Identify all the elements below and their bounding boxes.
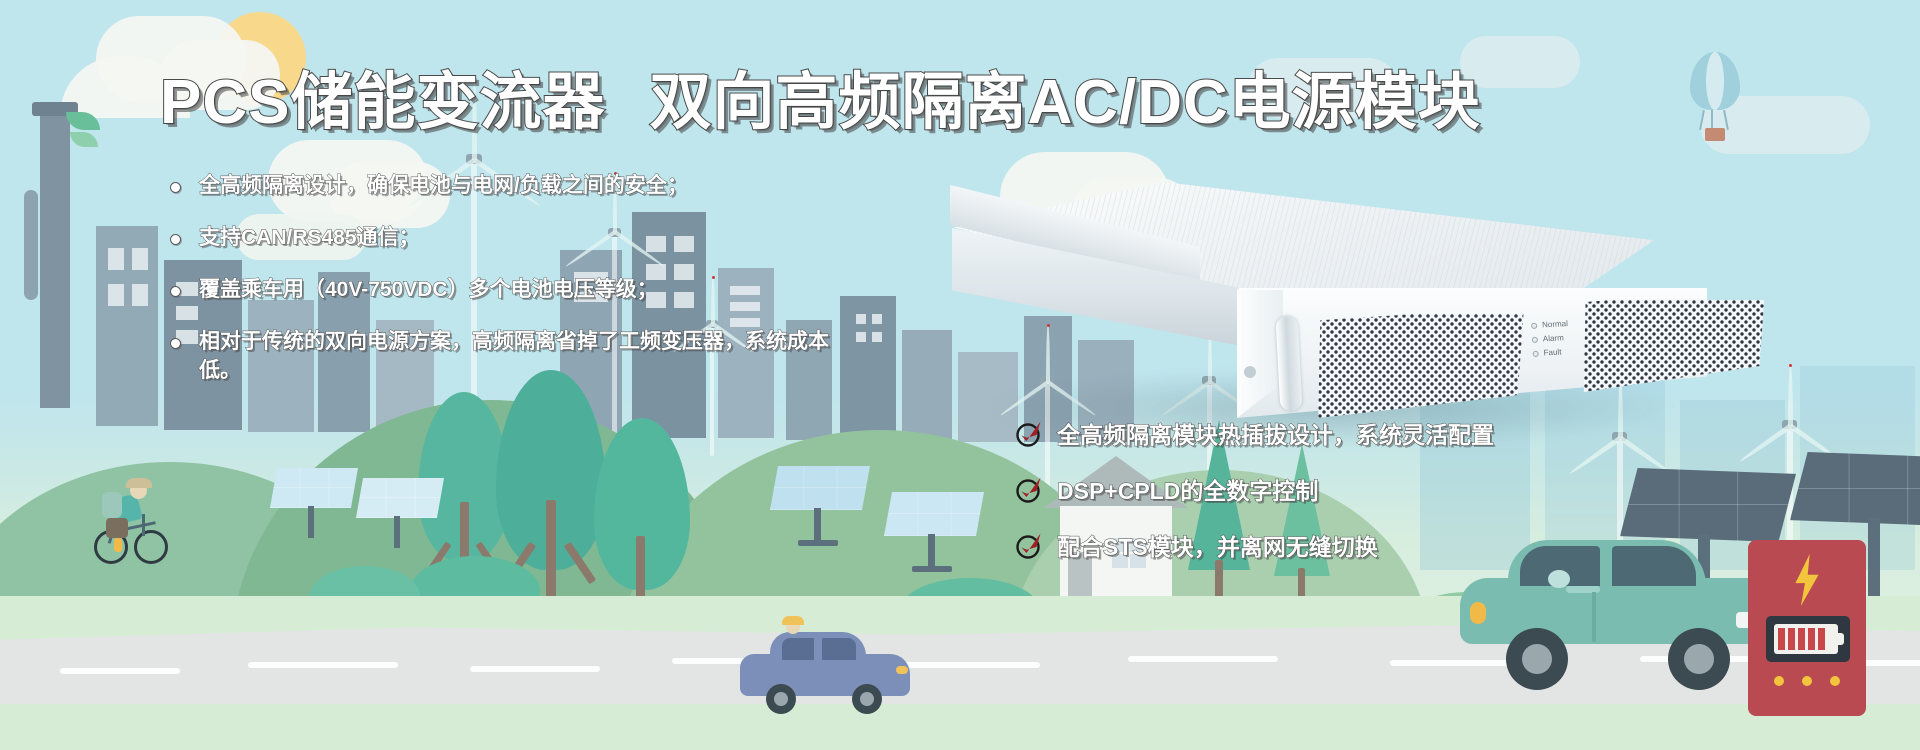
- check-circle-icon: [1015, 530, 1045, 560]
- feature-bullet-item: 覆盖乘车用（40V-750VDC）多个电池电压等级；: [170, 276, 890, 304]
- led-indicator-fault: [1533, 350, 1539, 356]
- chimney-shape: [40, 108, 70, 408]
- benefit-check-item: DSP+CPLD的全数字控制: [1015, 472, 1494, 506]
- headlight-shape: [1470, 602, 1486, 624]
- device-screw: [1244, 366, 1256, 378]
- bullet-dot-icon: [170, 338, 181, 349]
- building-shape: [96, 226, 158, 426]
- leaf-icon: [70, 132, 98, 147]
- feature-bullet-text: 相对于传统的双向电源方案，高频隔离省掉了工频变压器，系统成本低。: [199, 328, 830, 384]
- benefit-check-item: 配合STS模块，并离网无缝切换: [1015, 528, 1494, 562]
- led-indicator-alarm: [1532, 336, 1538, 342]
- feature-bullet-item: 相对于传统的双向电源方案，高频隔离省掉了工频变压器，系统成本低。: [170, 328, 830, 384]
- cyclist-figure: [778, 620, 808, 646]
- bullet-dot-icon: [170, 182, 181, 193]
- led-row-alarm: Alarm: [1532, 333, 1569, 344]
- chimney-stem: [24, 190, 38, 300]
- road-marking: [248, 662, 398, 668]
- benefit-check-text: 配合STS模块，并离网无缝切换: [1057, 528, 1378, 562]
- road-marking: [470, 666, 600, 672]
- road-marking: [60, 668, 180, 674]
- feature-bullet-list: 全高频隔离设计，确保电池与电网/负载之间的安全； 支持CAN/RS485通信； …: [170, 172, 890, 409]
- status-led: [1830, 676, 1840, 686]
- title-part-2: 双向高频隔离AC/DC电源模块: [649, 72, 1480, 134]
- promo-banner: Normal Alarm Fault PCS储能变流器 双向高频隔离AC/DC电…: [0, 0, 1920, 750]
- window-shape: [132, 284, 148, 306]
- device-led-panel: Normal Alarm Fault: [1531, 319, 1570, 363]
- bullet-dot-icon: [170, 234, 181, 245]
- banner-title: PCS储能变流器 双向高频隔离AC/DC电源模块: [160, 62, 1360, 144]
- led-label-normal: Normal: [1542, 319, 1568, 329]
- window-shape: [132, 248, 148, 270]
- feature-bullet-text: 全高频隔离设计，确保电池与电网/负载之间的安全；: [199, 172, 688, 200]
- ev-charger-icon: [1748, 540, 1866, 716]
- feature-bullet-item: 全高频隔离设计，确保电池与电网/负载之间的安全；: [170, 172, 890, 200]
- cyclist-figure: [68, 478, 180, 574]
- ev-car-figure: [1460, 540, 1790, 672]
- benefit-check-text: DSP+CPLD的全数字控制: [1057, 472, 1318, 506]
- check-circle-icon: [1015, 474, 1045, 504]
- window-shape: [108, 284, 124, 306]
- led-label-fault: Fault: [1543, 347, 1561, 357]
- feature-bullet-item: 支持CAN/RS485通信；: [170, 224, 890, 252]
- solar-panel-icon: [356, 478, 452, 556]
- road-marking: [1128, 656, 1278, 662]
- led-row-fault: Fault: [1532, 347, 1569, 358]
- solar-panel-icon: [884, 492, 994, 576]
- benefit-check-list: 全高频隔离模块热插拔设计，系统灵活配置 DSP+CPLD的全数字控制 配合STS…: [1015, 416, 1494, 584]
- bullet-dot-icon: [170, 286, 181, 297]
- status-led: [1802, 676, 1812, 686]
- led-row-normal: Normal: [1531, 319, 1568, 330]
- hot-air-balloon-icon: [1680, 52, 1750, 160]
- solar-panel-icon: [270, 468, 366, 546]
- solar-panel-icon: [770, 466, 880, 550]
- benefit-check-item: 全高频隔离模块热插拔设计，系统灵活配置: [1015, 416, 1494, 450]
- car-figure: [740, 632, 910, 708]
- window-shape: [108, 248, 124, 270]
- feature-bullet-text: 支持CAN/RS485通信；: [199, 224, 420, 252]
- benefit-check-text: 全高频隔离模块热插拔设计，系统灵活配置: [1057, 416, 1494, 450]
- status-led: [1774, 676, 1784, 686]
- road-marking: [900, 662, 1040, 668]
- ground-shape: [0, 704, 1920, 750]
- check-circle-icon: [1015, 418, 1045, 448]
- title-part-1: PCS储能变流器: [160, 72, 605, 134]
- led-indicator-normal: [1531, 322, 1537, 328]
- feature-bullet-text: 覆盖乘车用（40V-750VDC）多个电池电压等级；: [199, 276, 658, 304]
- led-label-alarm: Alarm: [1543, 333, 1564, 343]
